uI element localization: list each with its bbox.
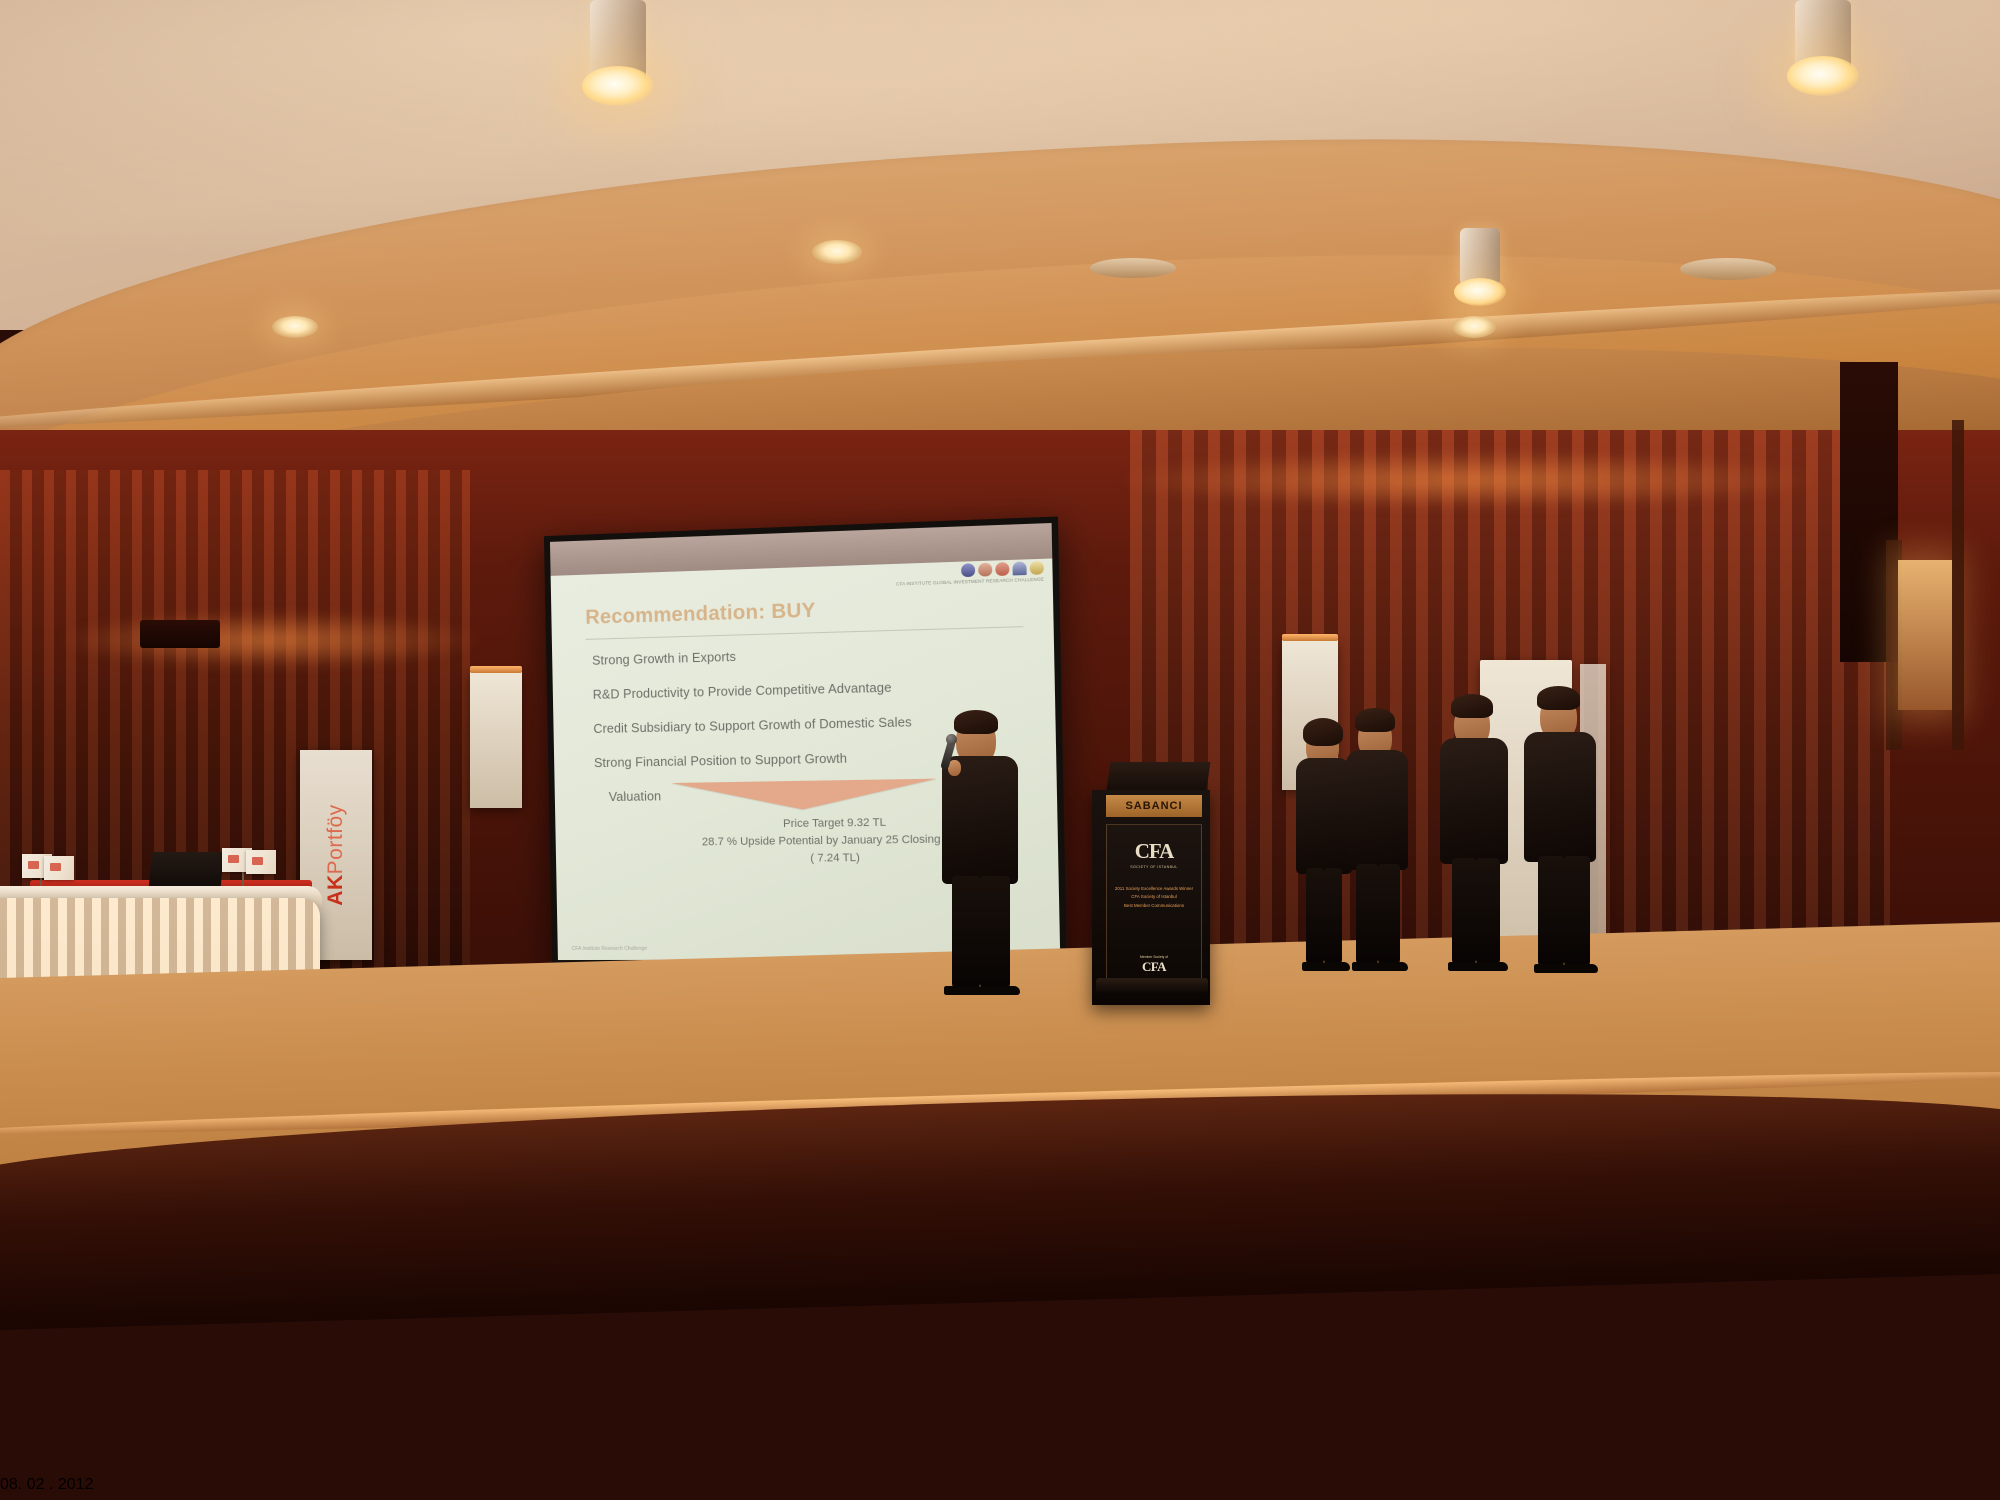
panelist-jacket — [1296, 758, 1352, 874]
seat — [516, 1236, 716, 1392]
auditorium-photo: CFA INSTITUTE GLOBAL INVESTMENT RESEARCH… — [0, 0, 2000, 1500]
pendant-light-icon — [1795, 0, 1851, 76]
panelist-hair — [1451, 694, 1493, 718]
wall-wash-light — [1120, 452, 1820, 508]
panelist-leg — [1306, 868, 1324, 964]
partner-logo-icon — [1012, 561, 1026, 575]
panelist-shoe — [1378, 962, 1408, 971]
panelist-leg — [1378, 864, 1400, 964]
panelist-leg — [1356, 864, 1378, 964]
panelist-hair — [1303, 718, 1343, 746]
panelist-leg — [1324, 868, 1342, 964]
slide-logo-caption: CFA INSTITUTE GLOBAL INVESTMENT RESEARCH… — [896, 577, 1044, 587]
slide-title: Recommendation: BUY — [585, 593, 1032, 630]
award-line: 2011 Society Excellence Awards Winner — [1115, 885, 1193, 893]
cfa-award-text: 2011 Society Excellence Awards Winner CF… — [1115, 885, 1193, 910]
presenter-leg — [952, 876, 980, 988]
seat — [1080, 1418, 1460, 1500]
panelist-jacket — [1346, 750, 1408, 870]
wall-speaker — [140, 620, 220, 648]
panelist-leg — [1564, 856, 1590, 966]
downlight-icon — [812, 240, 862, 264]
seat — [1732, 1124, 1912, 1256]
slide-title-rule — [586, 626, 1024, 640]
partner-logo-icon — [978, 563, 992, 577]
panelist-shoe — [1476, 962, 1508, 971]
podium-base — [1096, 978, 1208, 994]
seat — [300, 1420, 660, 1500]
slide-logo-strip — [961, 561, 1044, 577]
downlight-icon — [272, 316, 318, 338]
panelist-leg — [1538, 856, 1564, 966]
pendant-light-icon — [590, 0, 646, 86]
seat — [1062, 1122, 1228, 1248]
seat — [1300, 1236, 1540, 1416]
panelist-hair — [1537, 686, 1580, 710]
downlight-icon — [1452, 316, 1496, 338]
ceiling-vent — [1090, 258, 1176, 278]
seat — [0, 1246, 190, 1416]
partner-logo-icon — [995, 562, 1009, 576]
award-line: CFA Society of Istanbul — [1115, 893, 1193, 901]
partner-logo-icon — [961, 563, 975, 577]
presenter-leg — [980, 876, 1010, 988]
slide-bullet: Strong Growth in Exports — [592, 642, 1033, 668]
panelist-leg — [1476, 858, 1500, 964]
seat — [256, 1152, 416, 1274]
slide-bullet: R&D Productivity to Provide Competitive … — [593, 677, 1034, 702]
desk-flag-icon — [44, 856, 74, 880]
seat — [1900, 1130, 2000, 1262]
wall-wash-light — [60, 612, 480, 668]
presenter-hair — [954, 710, 998, 734]
down-arrow-icon — [671, 779, 937, 812]
panelist-jacket — [1440, 738, 1508, 864]
seat — [1560, 1136, 1736, 1266]
slide-footer: CFA Institute Research Challenge — [572, 946, 647, 952]
panelist-jacket — [1524, 732, 1596, 862]
akportfoy-banner-text: AKPortföy — [324, 804, 348, 905]
desk-flag-icon — [246, 850, 276, 874]
banner-top-rail — [1282, 634, 1338, 641]
banner-stand-left — [470, 672, 522, 808]
ceiling-vent — [1680, 258, 1776, 280]
wall-sconce-icon — [1898, 560, 1952, 710]
panelist-shoe — [1324, 962, 1350, 971]
seat — [0, 1400, 300, 1500]
cfa-bottom-mark: Member Society of CFA — [1140, 955, 1168, 975]
panelist-hair — [1355, 708, 1395, 732]
panelist-shoe — [1564, 964, 1598, 973]
cfa-logo: CFA — [1135, 839, 1174, 864]
microphone-head-icon — [946, 734, 957, 745]
seat — [1460, 1430, 1860, 1500]
akportfoy-bold: AK — [324, 874, 347, 905]
presenter-shoe — [980, 986, 1020, 995]
podium-cfa-panel: CFA SOCIETY OF ISTANBUL 2011 Society Exc… — [1106, 824, 1202, 984]
banner-top-rail — [470, 666, 522, 673]
panelist-shoe — [1534, 964, 1568, 973]
sconce-frame — [1952, 420, 1964, 750]
cfa-logo-subtitle: SOCIETY OF ISTANBUL — [1130, 865, 1178, 869]
cfa-bottom-logo: CFA — [1140, 959, 1168, 975]
pendant-light-icon — [1460, 228, 1500, 286]
akportfoy-light: Portföy — [324, 804, 347, 874]
podium-sponsor-label: SABANCI — [1106, 795, 1202, 817]
award-line: Best Member Communications — [1115, 902, 1193, 910]
presenter-shoe — [944, 986, 984, 995]
partner-logo-icon — [1030, 561, 1044, 575]
panelist-leg — [1452, 858, 1476, 964]
